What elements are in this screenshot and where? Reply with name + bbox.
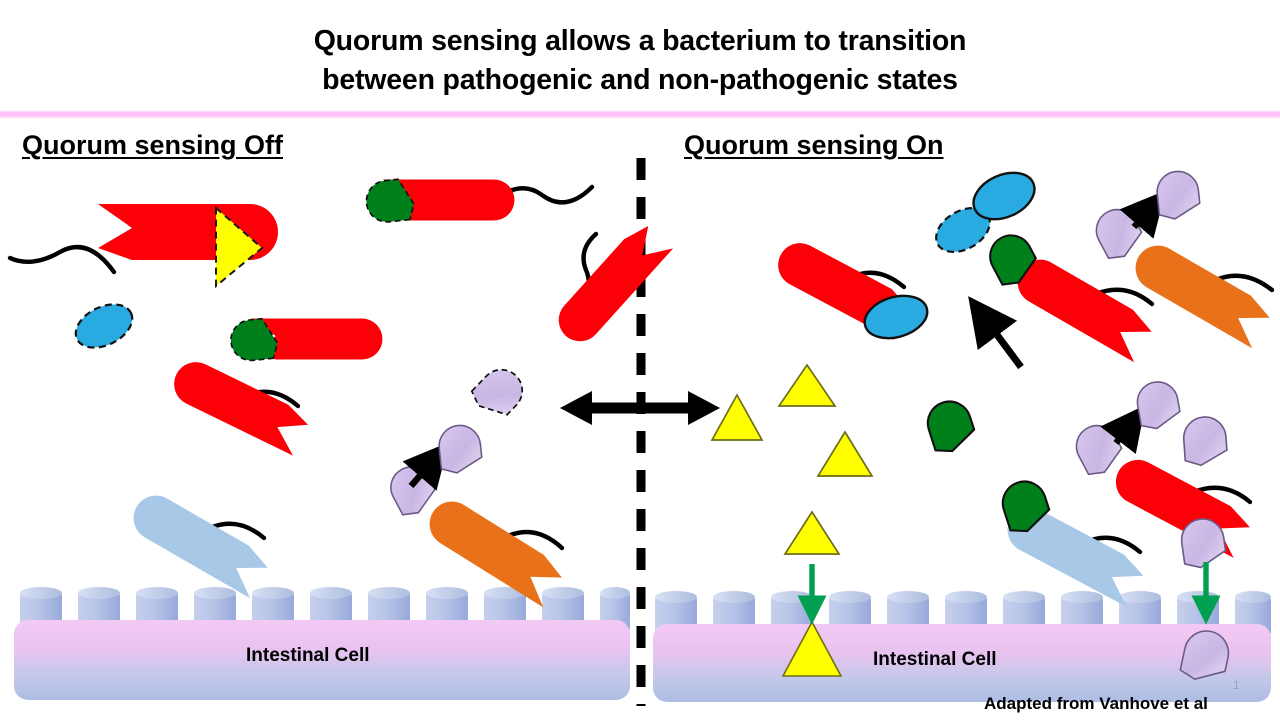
bacterium-red-secreting-right: [1069, 379, 1254, 558]
secretion-arrow-right-low: [1116, 412, 1140, 443]
diagram-graphics: [0, 0, 1280, 720]
free-green-dome-1: [922, 396, 978, 456]
intestinal-cell-left: [14, 587, 630, 700]
free-yellow-triangle-2: [779, 365, 835, 406]
free-toxin-dome-1: [1182, 416, 1227, 467]
bacterium-red-yellow-triangle: [10, 204, 278, 286]
toxin-in-bacterium: [384, 460, 441, 520]
free-yellow-triangle-1: [712, 395, 762, 440]
free-yellow-triangle-4: [785, 512, 839, 554]
slide-canvas: Quorum sensing allows a bacterium to tra…: [0, 0, 1280, 720]
ligand-lavender-dome: [468, 361, 531, 424]
secretion-arrow-right-top: [1134, 197, 1160, 227]
credit-text: Adapted from Vanhove et al: [984, 694, 1208, 714]
bacterium-orange-secreting-left: [384, 423, 567, 607]
bacterium-lightblue-left: [125, 487, 272, 598]
secreted-toxin-right-low: [1134, 379, 1182, 431]
intestinal-cell-right: [653, 591, 1271, 702]
ligand-blue-ellipse: [69, 296, 140, 356]
free-yellow-triangle-3: [818, 432, 872, 476]
cell-label-left: Intestinal Cell: [246, 645, 370, 667]
bacterium-red-green-dome-top: [364, 178, 592, 224]
secreted-toxin-dome: [437, 423, 483, 474]
slide-number: 1: [1233, 678, 1240, 692]
bacterium-red-green-dome-mid: [229, 317, 383, 362]
cell-label-right: Intestinal Cell: [873, 649, 997, 671]
signal-cascade-arrow: [974, 304, 1021, 367]
toxin-in-red-bacterium: [1069, 418, 1128, 479]
toxin-in-bacterium-right: [1089, 202, 1148, 263]
secreted-toxin-right-top: [1155, 169, 1201, 220]
